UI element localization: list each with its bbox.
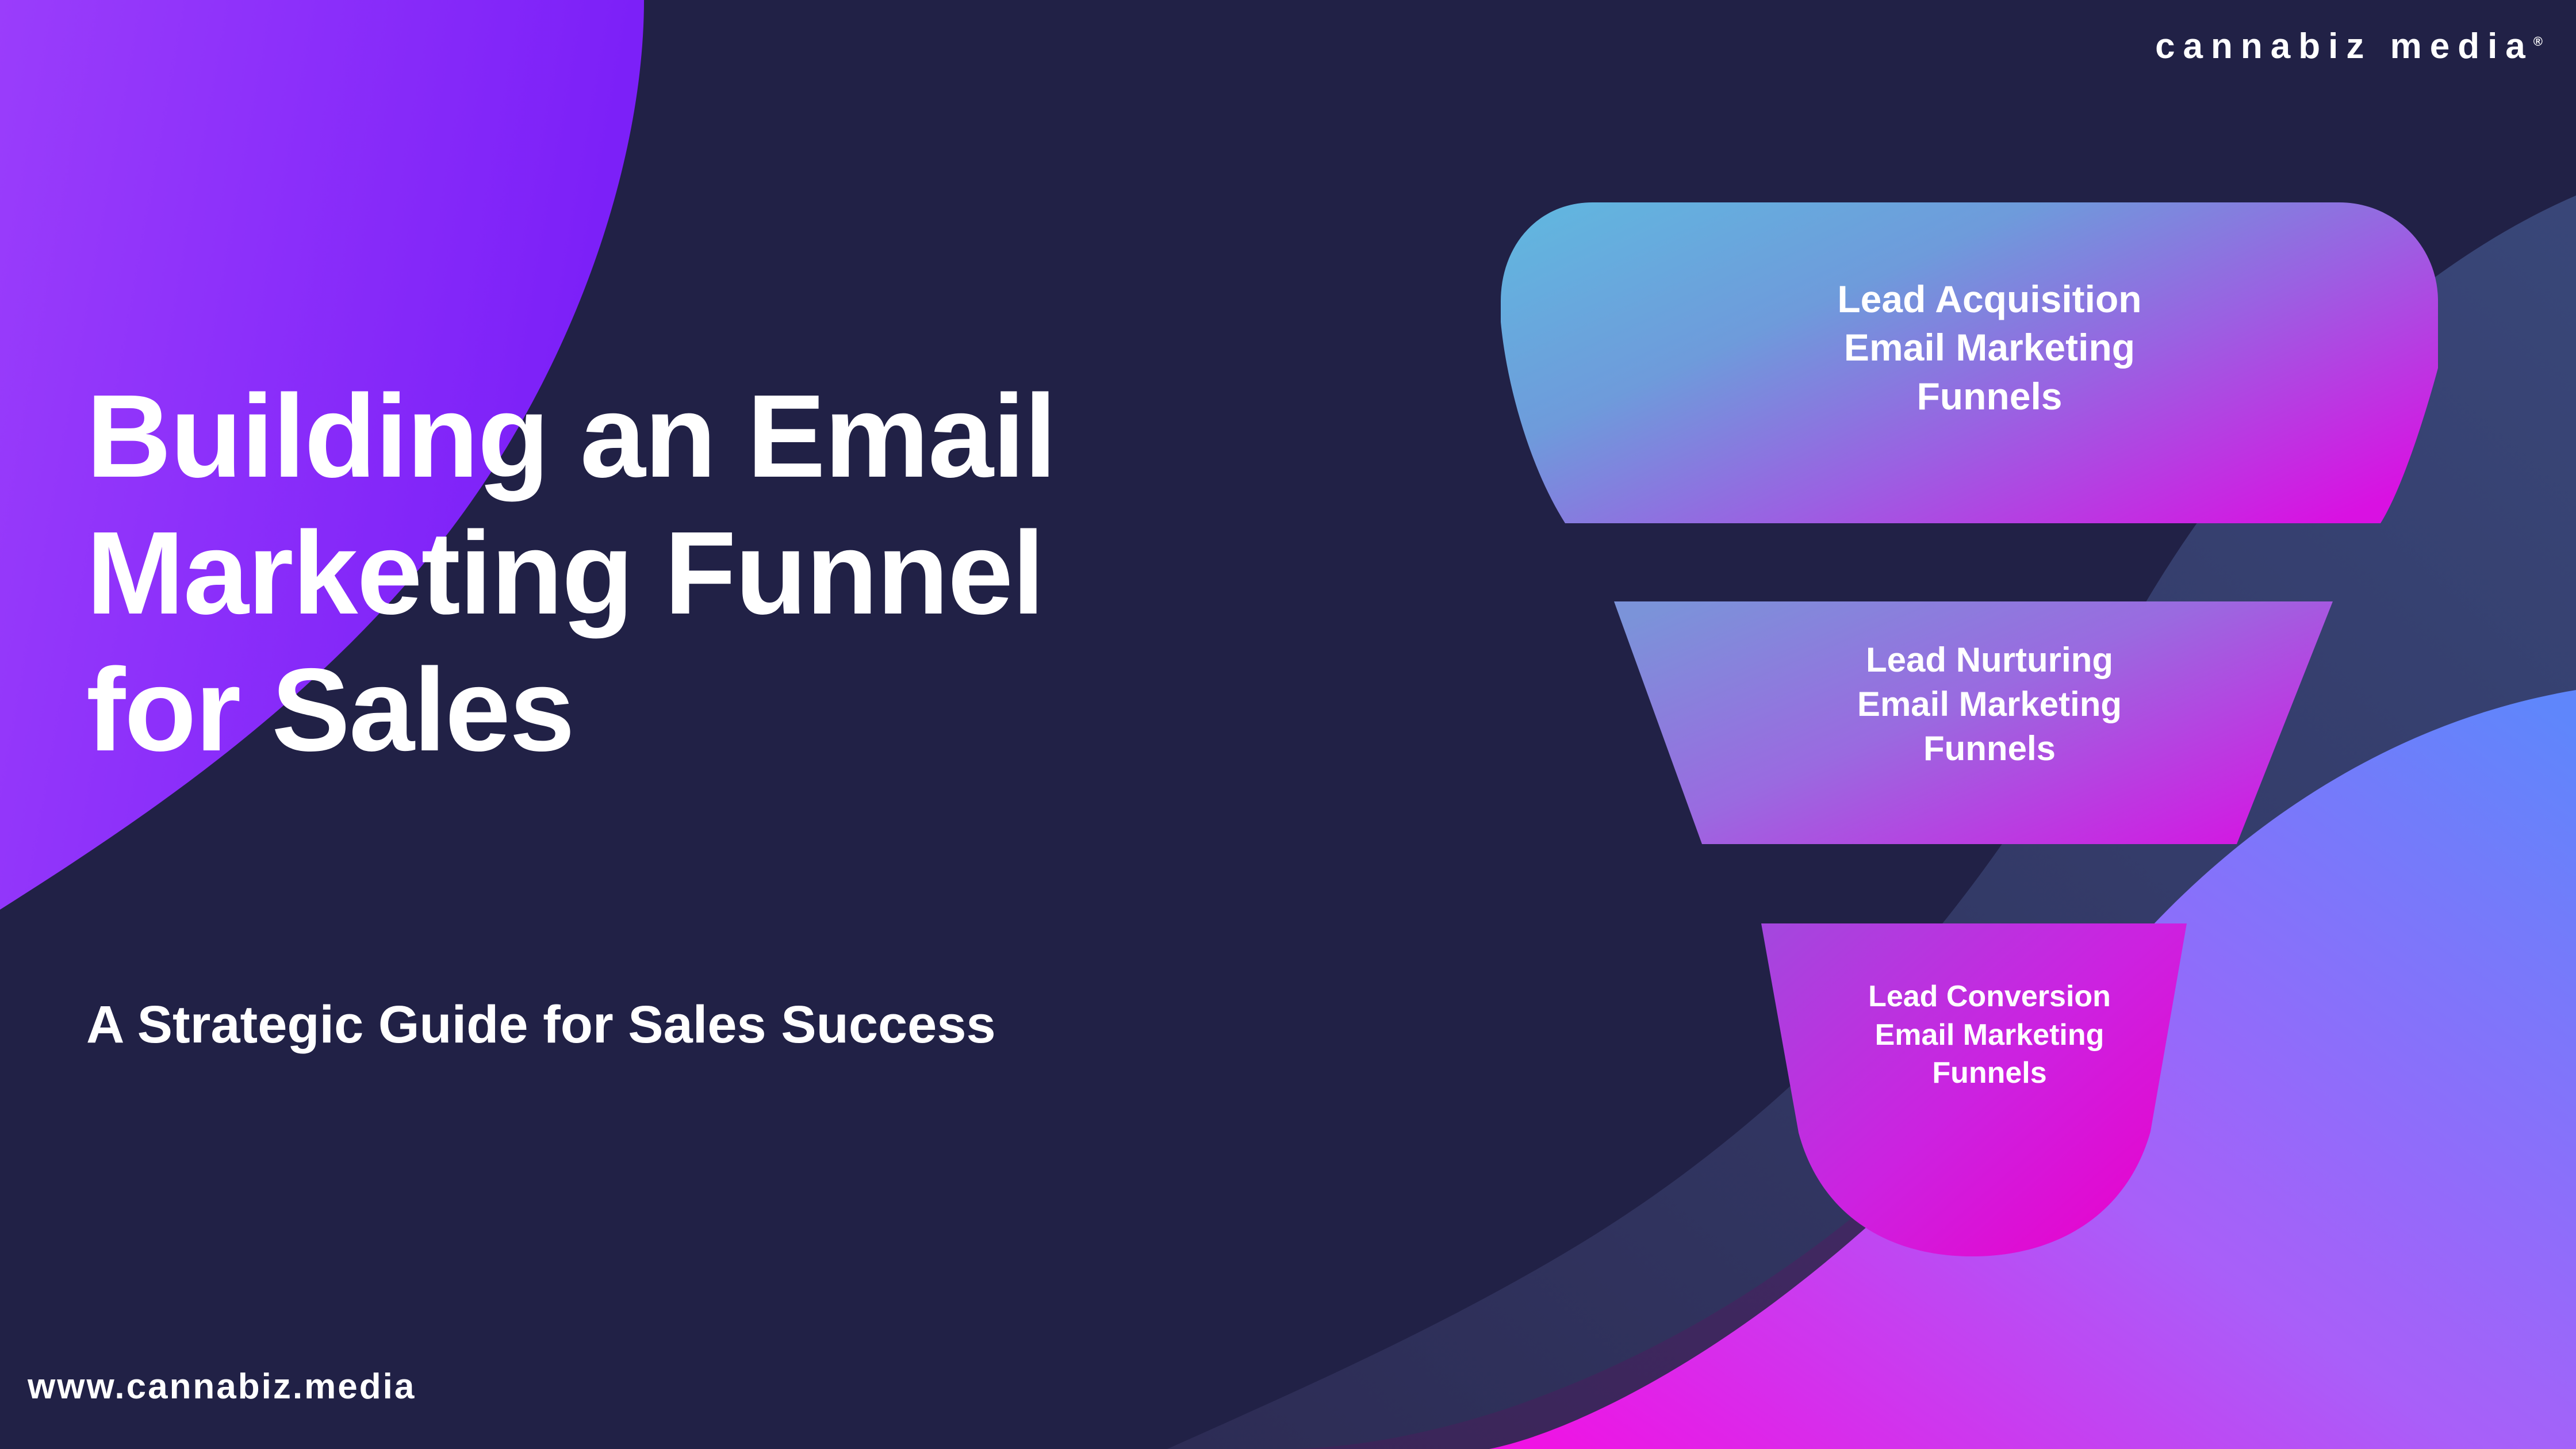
poster-canvas: cannabiz media® Building an Email Market… [0,0,2576,1449]
brand-logo-text: cannabiz media [2155,26,2533,66]
page-title-line-2: Marketing Funnel [86,505,1478,642]
page-title: Building an Email Marketing Funnel for S… [86,368,1478,778]
brand-logo: cannabiz media® [2155,29,2543,64]
funnel-segment-lead-nurturing[interactable] [1614,601,2333,844]
page-title-line-3: for Sales [86,642,1478,779]
page-title-line-1: Building an Email [86,368,1478,505]
funnel-segment-lead-acquisition[interactable] [1501,202,2438,523]
page-subtitle: A Strategic Guide for Sales Success [86,995,996,1055]
registered-trademark-icon: ® [2533,34,2543,48]
website-url: www.cannabiz.media [28,1366,416,1407]
